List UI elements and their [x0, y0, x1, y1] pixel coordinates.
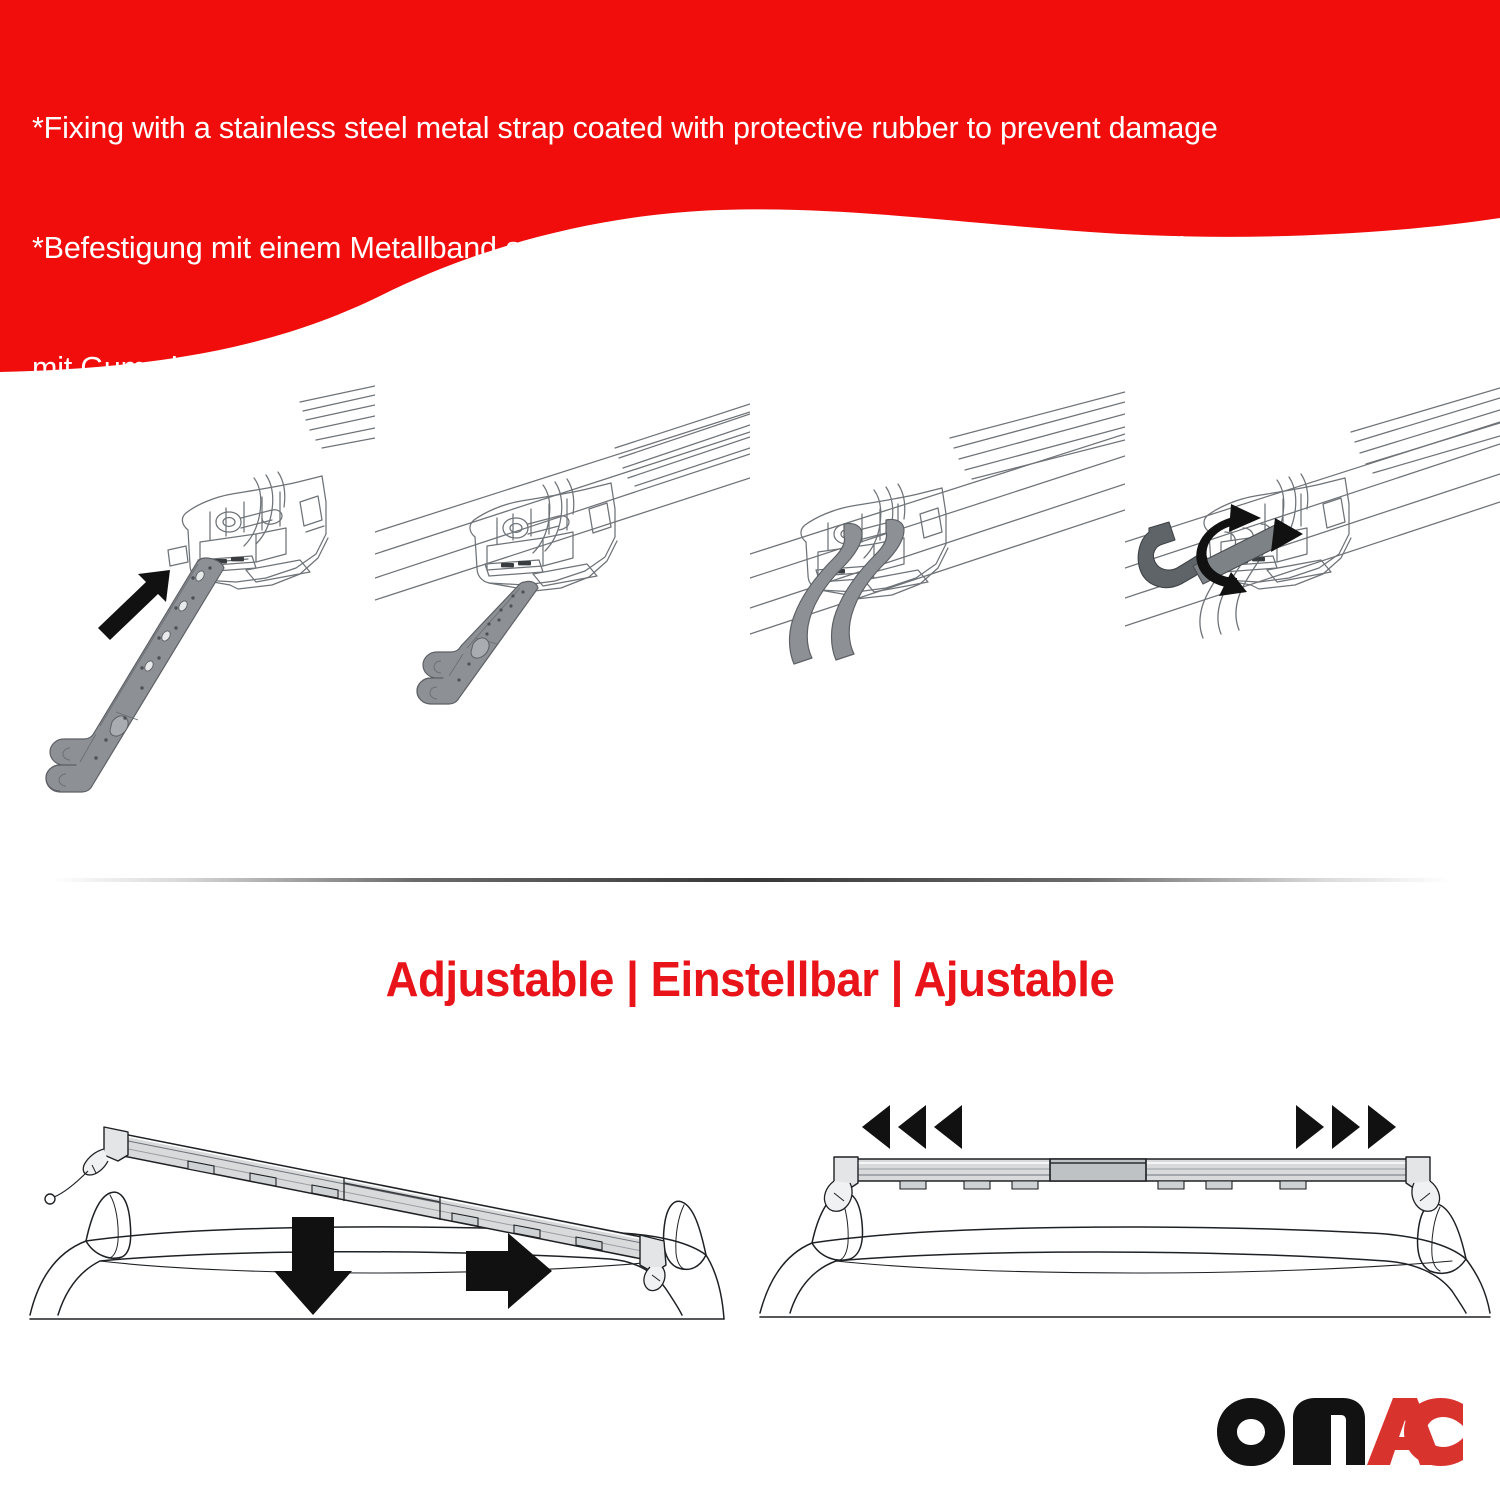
adjust-diagram-extend-width [750, 1075, 1500, 1405]
step-2-illustration [375, 382, 750, 852]
strap-wrapped-bands [790, 519, 905, 664]
step-3-strap-wrapped-around-rail [750, 382, 1125, 852]
step-1-illustration [0, 382, 375, 852]
arrow-triple-right-icon [1296, 1105, 1396, 1149]
arrow-down-icon [274, 1217, 352, 1315]
header-line-en: *Fixing with a stainless steel metal str… [32, 108, 1482, 148]
step-1-insert-strap-into-foot [0, 382, 375, 852]
step-4-illustration [1125, 382, 1500, 852]
rack-foot-linework [168, 386, 375, 589]
step-4-tighten-bolt-with-hex-key [1125, 382, 1500, 852]
header-line-de-1: *Befestigung mit einem Metallband aus ro… [32, 228, 1482, 268]
vehicle-roof-outline [760, 1192, 1490, 1317]
omac-logo [1215, 1394, 1465, 1468]
installation-steps-row [0, 382, 1500, 852]
section-divider [50, 878, 1450, 882]
adjust-diagram-place-crossbar [0, 1075, 750, 1405]
omac-logo-mark [1215, 1394, 1465, 1468]
place-crossbar-illustration [0, 1075, 750, 1405]
step-2-foot-seated-on-roof-rail [375, 382, 750, 852]
rubber-coated-steel-strap [417, 581, 538, 704]
logo-letter-o [1217, 1398, 1285, 1466]
arrow-triple-left-icon [862, 1105, 962, 1149]
step-3-illustration [750, 382, 1125, 852]
crossbar-assembly [824, 1157, 1439, 1211]
adjustable-title: Adjustable | Einstellbar | Ajustable [53, 952, 1448, 1008]
roof-rail-and-foot-linework [1125, 388, 1500, 638]
roof-rail-and-foot-linework [375, 404, 750, 600]
header-banner: *Fixing with a stainless steel metal str… [0, 0, 1500, 400]
vehicle-roof-outline [30, 1192, 724, 1319]
adjustable-diagrams-row [0, 1075, 1500, 1405]
logo-letter-m [1293, 1398, 1365, 1465]
extend-width-illustration [750, 1075, 1500, 1405]
arrow-right-icon [466, 1233, 552, 1309]
crossbar-assembly [45, 1127, 666, 1291]
